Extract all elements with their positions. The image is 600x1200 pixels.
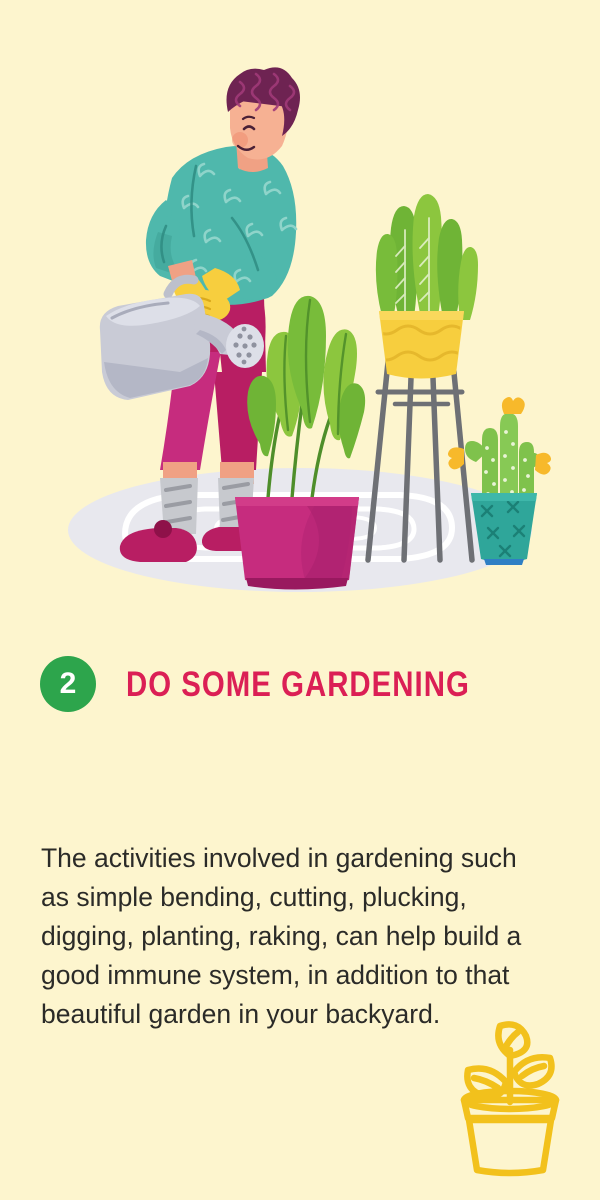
illustration-gardening-scene [0, 0, 600, 620]
step-number-label: 2 [60, 669, 77, 699]
yellow-pot [379, 311, 464, 379]
page-title: DO SOME GARDENING [126, 667, 470, 702]
body-paragraph: The activities involved in gardening suc… [41, 839, 526, 1034]
infographic-card: 2 DO SOME GARDENING The activities invol… [0, 0, 600, 1200]
step-number-badge: 2 [40, 656, 96, 712]
potted-plant-outline-icon [442, 1010, 578, 1182]
step-heading: 2 DO SOME GARDENING [40, 655, 535, 713]
